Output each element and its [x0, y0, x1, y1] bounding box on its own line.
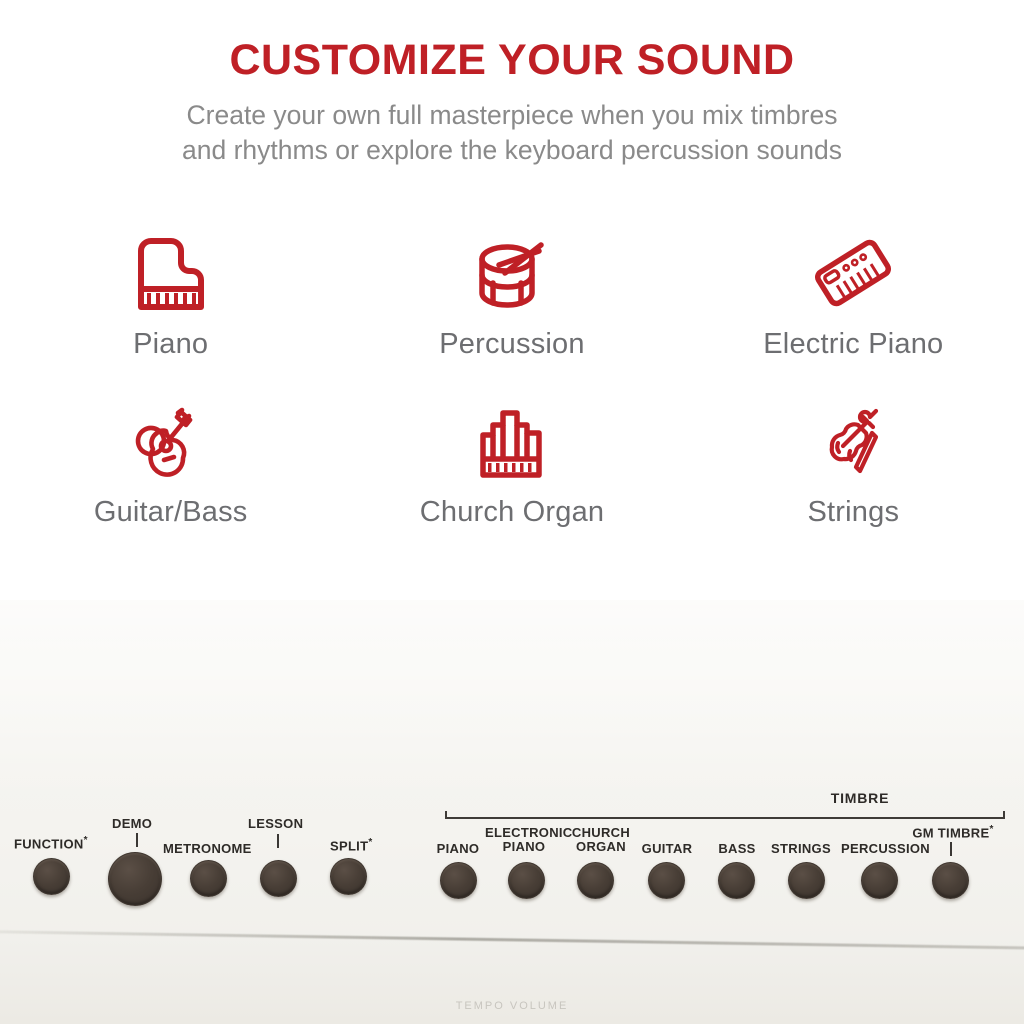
button-label-bass: BASS — [714, 841, 760, 856]
feature-icon-grid: Piano — [0, 222, 1024, 562]
pipe-organ-icon — [462, 400, 562, 486]
timbre-button-gm-timbre[interactable] — [932, 862, 969, 899]
synthesizer-keyboard-icon — [803, 230, 903, 316]
button-label-split: SPLIT* — [330, 837, 373, 853]
timbre-button-guitar[interactable] — [648, 862, 685, 899]
hero-subtitle: Create your own full masterpiece when yo… — [62, 98, 962, 168]
feature-item-church-organ: Church Organ — [341, 392, 682, 562]
bracket-line — [445, 817, 1005, 819]
violin-icon — [803, 400, 903, 486]
feature-label: Percussion — [439, 328, 584, 361]
feature-item-strings: Strings — [683, 392, 1024, 562]
timbre-bracket — [445, 811, 1005, 823]
lesson-button[interactable] — [260, 860, 297, 897]
button-label-percussion: PERCUSSION — [841, 841, 927, 856]
button-label-lesson: LESSON — [248, 816, 303, 831]
feature-item-percussion: Percussion — [341, 222, 682, 392]
function-button[interactable] — [33, 858, 70, 895]
feature-item-electric-piano: Electric Piano — [683, 222, 1024, 392]
demo-button[interactable] — [108, 852, 162, 906]
lesson-tick-mark — [277, 834, 279, 848]
button-label-electronic-piano: ELECTRONICPIANO — [485, 826, 563, 854]
button-label-gm-timbre: GM TIMBRE* — [908, 824, 998, 840]
button-label-function: FUNCTION* — [14, 835, 88, 851]
feature-label: Electric Piano — [763, 328, 943, 361]
timbre-button-electronic-piano[interactable] — [508, 862, 545, 899]
acoustic-guitar-icon — [121, 400, 221, 486]
gm-timbre-tick-mark — [950, 842, 952, 856]
snare-drum-icon — [462, 230, 562, 316]
timbre-button-piano[interactable] — [440, 862, 477, 899]
page-title: CUSTOMIZE YOUR SOUND — [0, 36, 1024, 85]
timbre-button-bass[interactable] — [718, 862, 755, 899]
button-label-strings: STRINGS — [770, 841, 832, 856]
button-label-metronome: METRONOME — [163, 841, 252, 856]
feature-label: Strings — [807, 496, 899, 529]
panel-sheen — [0, 600, 1024, 800]
button-label-demo: DEMO — [112, 816, 152, 831]
feature-label: Church Organ — [420, 496, 605, 529]
feature-label: Guitar/Bass — [94, 496, 248, 529]
product-feature-page: CUSTOMIZE YOUR SOUND Create your own ful… — [0, 0, 1024, 1024]
feature-label: Piano — [133, 328, 208, 361]
timbre-button-strings[interactable] — [788, 862, 825, 899]
split-button[interactable] — [330, 858, 367, 895]
hero-subtitle-line-1: Create your own full masterpiece when yo… — [62, 98, 962, 133]
hero-section: CUSTOMIZE YOUR SOUND Create your own ful… — [0, 0, 1024, 600]
bracket-end-right — [1003, 811, 1005, 819]
keyboard-photo: FUNCTION* DEMO METRONOME LESSON SPLIT* T… — [0, 600, 1024, 1024]
hero-subtitle-line-2: and rhythms or explore the keyboard perc… — [62, 133, 962, 168]
timbre-button-percussion[interactable] — [861, 862, 898, 899]
grand-piano-icon — [121, 230, 221, 316]
bottom-caption: TEMPO VOLUME — [0, 1000, 1024, 1012]
demo-tick-mark — [136, 833, 138, 847]
feature-item-piano: Piano — [0, 222, 341, 392]
timbre-button-church-organ[interactable] — [577, 862, 614, 899]
button-label-piano: PIANO — [433, 841, 483, 856]
feature-item-guitar-bass: Guitar/Bass — [0, 392, 341, 562]
button-label-church-organ: CHURCHORGAN — [565, 826, 637, 854]
metronome-button[interactable] — [190, 860, 227, 897]
button-label-guitar: GUITAR — [638, 841, 696, 856]
timbre-group-label: TIMBRE — [445, 790, 1005, 806]
